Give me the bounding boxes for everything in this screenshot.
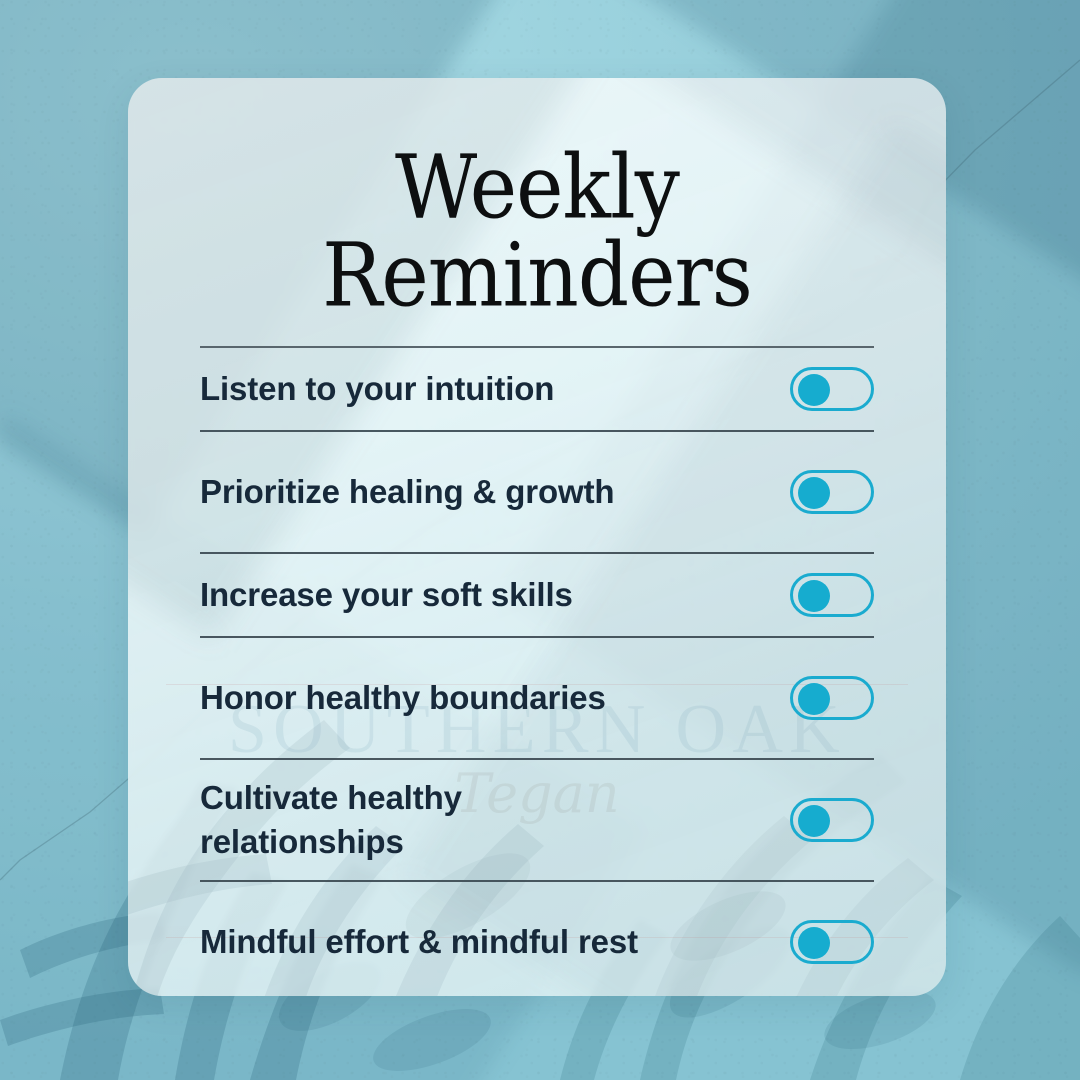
reminder-label: Prioritize healing & growth bbox=[200, 470, 614, 514]
row-divider bbox=[200, 552, 874, 554]
page-title: Weekly Reminders bbox=[170, 144, 904, 320]
toggle-knob bbox=[798, 927, 830, 959]
list-item[interactable]: Cultivate healthy relationships bbox=[170, 760, 904, 880]
toggle-knob bbox=[798, 805, 830, 837]
list-item[interactable]: Increase your soft skills bbox=[170, 554, 904, 636]
reminder-label: Increase your soft skills bbox=[200, 573, 573, 617]
poster-canvas: SOUTHERN OAK Tegan Weekly Reminders List… bbox=[0, 0, 1080, 1080]
reminder-label: Cultivate healthy relationships bbox=[200, 776, 670, 863]
row-divider bbox=[200, 636, 874, 638]
list-item[interactable]: Honor healthy boundaries bbox=[170, 638, 904, 758]
card-content: Weekly Reminders Listen to your intuitio… bbox=[128, 144, 946, 996]
reminder-label: Mindful effort & mindful rest bbox=[200, 920, 638, 964]
toggle-switch-icon[interactable] bbox=[790, 367, 874, 411]
toggle-knob bbox=[798, 374, 830, 406]
reminder-label: Listen to your intuition bbox=[200, 367, 554, 411]
toggle-knob bbox=[798, 580, 830, 612]
reminder-label: Honor healthy boundaries bbox=[200, 676, 606, 720]
toggle-switch-icon[interactable] bbox=[790, 920, 874, 964]
toggle-switch-icon[interactable] bbox=[790, 470, 874, 514]
toggle-switch-icon[interactable] bbox=[790, 573, 874, 617]
reminders-list: Listen to your intuition Prioritize heal… bbox=[170, 348, 904, 996]
row-divider bbox=[200, 758, 874, 760]
row-divider bbox=[200, 880, 874, 882]
list-item[interactable]: Prioritize healing & growth bbox=[170, 432, 904, 552]
reminders-card: SOUTHERN OAK Tegan Weekly Reminders List… bbox=[128, 78, 946, 996]
toggle-knob bbox=[798, 683, 830, 715]
row-divider bbox=[200, 430, 874, 432]
toggle-switch-icon[interactable] bbox=[790, 798, 874, 842]
toggle-switch-icon[interactable] bbox=[790, 676, 874, 720]
list-item[interactable]: Listen to your intuition bbox=[170, 348, 904, 430]
list-item[interactable]: Mindful effort & mindful rest bbox=[170, 882, 904, 996]
toggle-knob bbox=[798, 477, 830, 509]
